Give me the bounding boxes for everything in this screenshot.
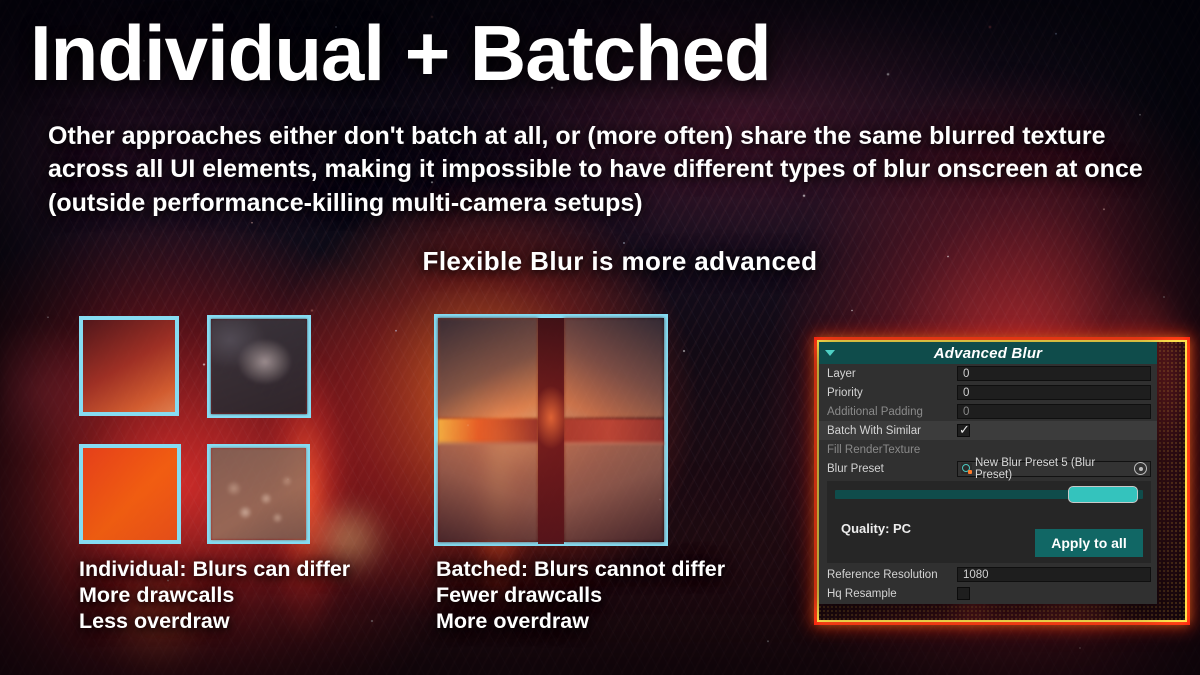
batched-quad-bottom-left [438, 442, 538, 542]
inspector-highlight-group: Advanced Blur Layer 0 Priority 0 Additio… [814, 337, 1190, 625]
batch-with-similar-checkbox[interactable] [957, 424, 970, 437]
blur-preset-object-field[interactable]: New Blur Preset 5 (Blur Preset) [957, 461, 1151, 477]
row-batch-with-similar[interactable]: Batch With Similar [819, 421, 1157, 440]
row-layer-label: Layer [827, 368, 957, 380]
row-priority-label: Priority [827, 387, 957, 399]
reference-resolution-input[interactable]: 1080 [957, 567, 1151, 582]
blur-preset-value: New Blur Preset 5 (Blur Preset) [975, 457, 1131, 481]
row-hq-resample[interactable]: Hq Resample [819, 584, 1157, 603]
row-hq-resample-label: Hq Resample [827, 588, 957, 600]
blur-quad-bottom-right-surface [211, 448, 306, 540]
blur-quad-bottom-left-surface [83, 448, 177, 540]
row-additional-padding-input: 0 [957, 404, 1151, 419]
batched-blur-panel [434, 314, 668, 546]
row-fill-rendertexture-label: Fill RenderTexture [827, 444, 957, 456]
individual-caption: Individual: Blurs can differ More drawca… [79, 556, 350, 635]
blur-quad-top-right [207, 315, 311, 418]
row-blur-preset-label: Blur Preset [827, 463, 957, 475]
quality-label: Quality: PC [841, 521, 911, 536]
blur-quad-bottom-left [79, 444, 181, 544]
blur-preset-asset-icon [961, 463, 972, 474]
blur-quad-top-left-surface [83, 320, 175, 412]
apply-to-all-button[interactable]: Apply to all [1035, 529, 1143, 557]
row-layer-input[interactable]: 0 [957, 366, 1151, 381]
slide-subheading: Flexible Blur is more advanced [0, 246, 1200, 277]
blur-quad-bottom-right [207, 444, 310, 544]
row-batch-with-similar-label: Batch With Similar [827, 425, 957, 437]
batched-caption: Batched: Blurs cannot differ Fewer drawc… [436, 556, 725, 635]
slide-title: Individual + Batched [30, 14, 1170, 92]
batched-quad-top-left [438, 318, 538, 418]
row-layer[interactable]: Layer 0 [819, 364, 1157, 383]
slide-canvas: Individual + Batched Other approaches ei… [0, 0, 1200, 675]
hq-resample-checkbox[interactable] [957, 587, 970, 600]
batched-quad-bottom-right [564, 442, 664, 542]
blur-preset-inline-editor[interactable]: Quality: PC Apply to all [827, 481, 1151, 563]
row-blur-preset[interactable]: Blur Preset New Blur Preset 5 (Blur Pres… [819, 459, 1157, 478]
row-priority[interactable]: Priority 0 [819, 383, 1157, 402]
row-reference-resolution[interactable]: Reference Resolution 1080 [819, 565, 1157, 584]
slide-body-text: Other approaches either don't batch at a… [48, 120, 1173, 220]
blur-quad-top-right-surface [211, 319, 307, 414]
row-additional-padding: Additional Padding 0 [819, 402, 1157, 421]
blur-quad-top-left [79, 316, 179, 416]
advanced-blur-inspector[interactable]: Advanced Blur Layer 0 Priority 0 Additio… [819, 342, 1157, 604]
batched-quad-top-right [564, 318, 664, 418]
row-reference-resolution-label: Reference Resolution [827, 569, 957, 581]
inspector-header[interactable]: Advanced Blur [819, 342, 1157, 364]
row-additional-padding-label: Additional Padding [827, 406, 957, 418]
batched-sharp-gap [538, 318, 564, 544]
row-priority-input[interactable]: 0 [957, 385, 1151, 400]
inspector-title: Advanced Blur [819, 345, 1157, 362]
object-picker-icon[interactable] [1134, 462, 1147, 475]
quality-slider-track[interactable] [835, 490, 1143, 499]
quality-slider-handle[interactable] [1068, 486, 1138, 503]
